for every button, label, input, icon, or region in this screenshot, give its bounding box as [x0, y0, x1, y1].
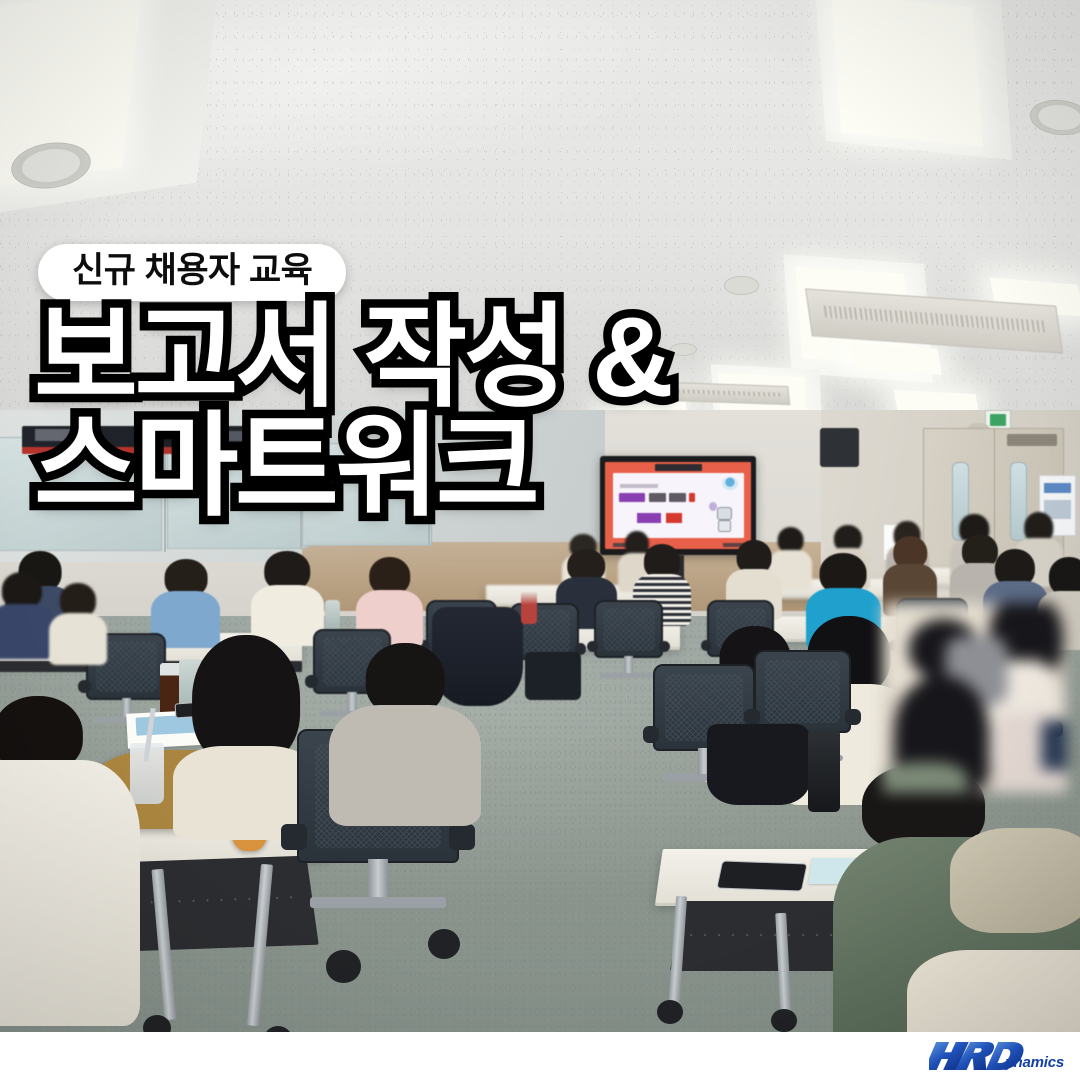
- ceiling-speaker-3: [724, 276, 760, 294]
- person-far-left-1: [0, 572, 54, 658]
- ceiling-light-2: [831, 0, 983, 147]
- category-badge: 신규 채용자 교육: [38, 244, 346, 301]
- person-front-left-white-puffer: [0, 702, 140, 1026]
- draped-bag-black: [525, 652, 581, 700]
- caster-chair-front-left-2: [428, 929, 460, 959]
- classroom-photo: [0, 0, 1080, 1080]
- person-far-left-2: [49, 583, 107, 665]
- brand-logo: ynamics: [929, 1038, 1064, 1074]
- headline-line-1: 보고서 작성 &: [34, 300, 794, 415]
- person-front-gray-hoodie: [329, 643, 480, 827]
- blurred-inset-overlay: [883, 603, 1067, 793]
- phone-right-table: [717, 860, 809, 891]
- black-coat-right: [707, 724, 810, 805]
- headline-line-2: 스마트워크: [34, 409, 794, 524]
- poster-canvas: 신규 채용자 교육 보고서 작성 & 스마트워크: [0, 0, 1080, 1080]
- wall-speaker: [820, 428, 859, 467]
- caster-chair-front-left: [326, 950, 361, 982]
- footer-bar: ynamics: [0, 1032, 1080, 1080]
- category-badge-label: 신규 채용자 교육: [72, 253, 312, 288]
- poster-headline: 보고서 작성 & 스마트워크: [34, 300, 794, 525]
- brand-suffix-label: ynamics: [1005, 1054, 1064, 1071]
- drink-cup-mid: [521, 592, 537, 624]
- caster-right-1: [657, 1000, 683, 1024]
